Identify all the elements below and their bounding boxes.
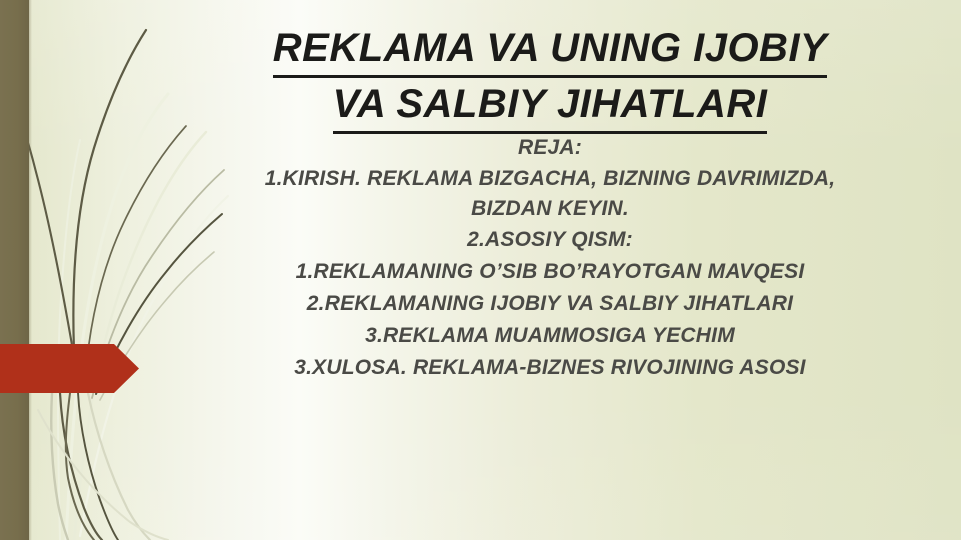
title-line-2: VA SALBIY JIHATLARI (150, 78, 950, 134)
body-line-muammosiga-yechim: 3.REKLAMA MUAMMOSIGA YECHIM (150, 320, 950, 352)
slide-body: REJA: 1.KIRISH. REKLAMA BIZGACHA, BIZNIN… (150, 132, 950, 384)
presentation-slide: REKLAMA VA UNING IJOBIY VA SALBIY JIHATL… (0, 0, 961, 540)
slide-title: REKLAMA VA UNING IJOBIY VA SALBIY JIHATL… (150, 22, 950, 134)
olive-side-band (0, 0, 29, 540)
body-line-mavqesi: 1.REKLAMANING O’SIB BO’RAYOTGAN MAVQESI (150, 256, 950, 288)
body-line-xulosa: 3.XULOSA. REKLAMA-BIZNES RIVOJINING ASOS… (150, 352, 950, 384)
title-line-1: REKLAMA VA UNING IJOBIY (150, 22, 950, 78)
body-line-reja: REJA: (150, 132, 950, 164)
body-line-kirish: 1.KIRISH. REKLAMA BIZGACHA, BIZNING DAVR… (150, 164, 950, 224)
title-line-2-text: VA SALBIY JIHATLARI (333, 78, 768, 134)
red-arrow-accent (0, 344, 139, 393)
title-line-1-text: REKLAMA VA UNING IJOBIY (273, 22, 828, 78)
body-line-asosiy-qism: 2.ASOSIY QISM: (150, 224, 950, 256)
body-line-ijobiy-salbiy: 2.REKLAMANING IJOBIY VA SALBIY JIHATLARI (150, 288, 950, 320)
olive-side-band-edge (29, 0, 32, 540)
